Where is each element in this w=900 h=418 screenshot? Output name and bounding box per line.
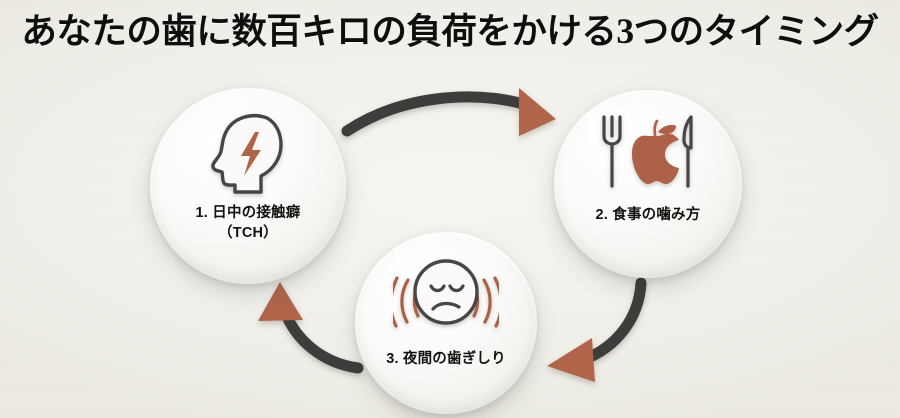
head-lightning-icon bbox=[207, 110, 289, 199]
cycle-node-bruxism[interactable]: 3. 夜間の歯ぎしり bbox=[355, 232, 537, 414]
sleeping-face-grinding-icon bbox=[393, 254, 499, 339]
infographic-canvas: あなたの歯に数百キロの負荷をかける3つのタイミング bbox=[0, 0, 900, 418]
arrow-2-to-3 bbox=[547, 283, 641, 382]
cycle-node-1-label-line1: 1. 日中の接触癖 bbox=[196, 203, 301, 223]
page-title: あなたの歯に数百キロの負荷をかける3つのタイミング bbox=[0, 6, 900, 56]
cycle-node-3-label: 3. 夜間の歯ぎしり bbox=[386, 349, 506, 369]
cycle-node-1-label-line2: （TCH） bbox=[196, 223, 301, 243]
cycle-node-daytime-tch[interactable]: 1. 日中の接触癖 （TCH） bbox=[150, 88, 346, 284]
cycle-node-3-label-line1: 3. 夜間の歯ぎしり bbox=[386, 349, 506, 369]
fork-apple-knife-icon bbox=[598, 114, 698, 195]
arrow-1-to-2 bbox=[347, 88, 556, 136]
cycle-node-chewing[interactable]: 2. 食事の噛み方 bbox=[554, 90, 742, 278]
cycle-node-1-label: 1. 日中の接触癖 （TCH） bbox=[196, 203, 301, 243]
cycle-node-2-label-line1: 2. 食事の噛み方 bbox=[596, 205, 701, 225]
arrow-3-to-1 bbox=[258, 282, 358, 368]
cycle-node-2-label: 2. 食事の噛み方 bbox=[596, 205, 701, 225]
